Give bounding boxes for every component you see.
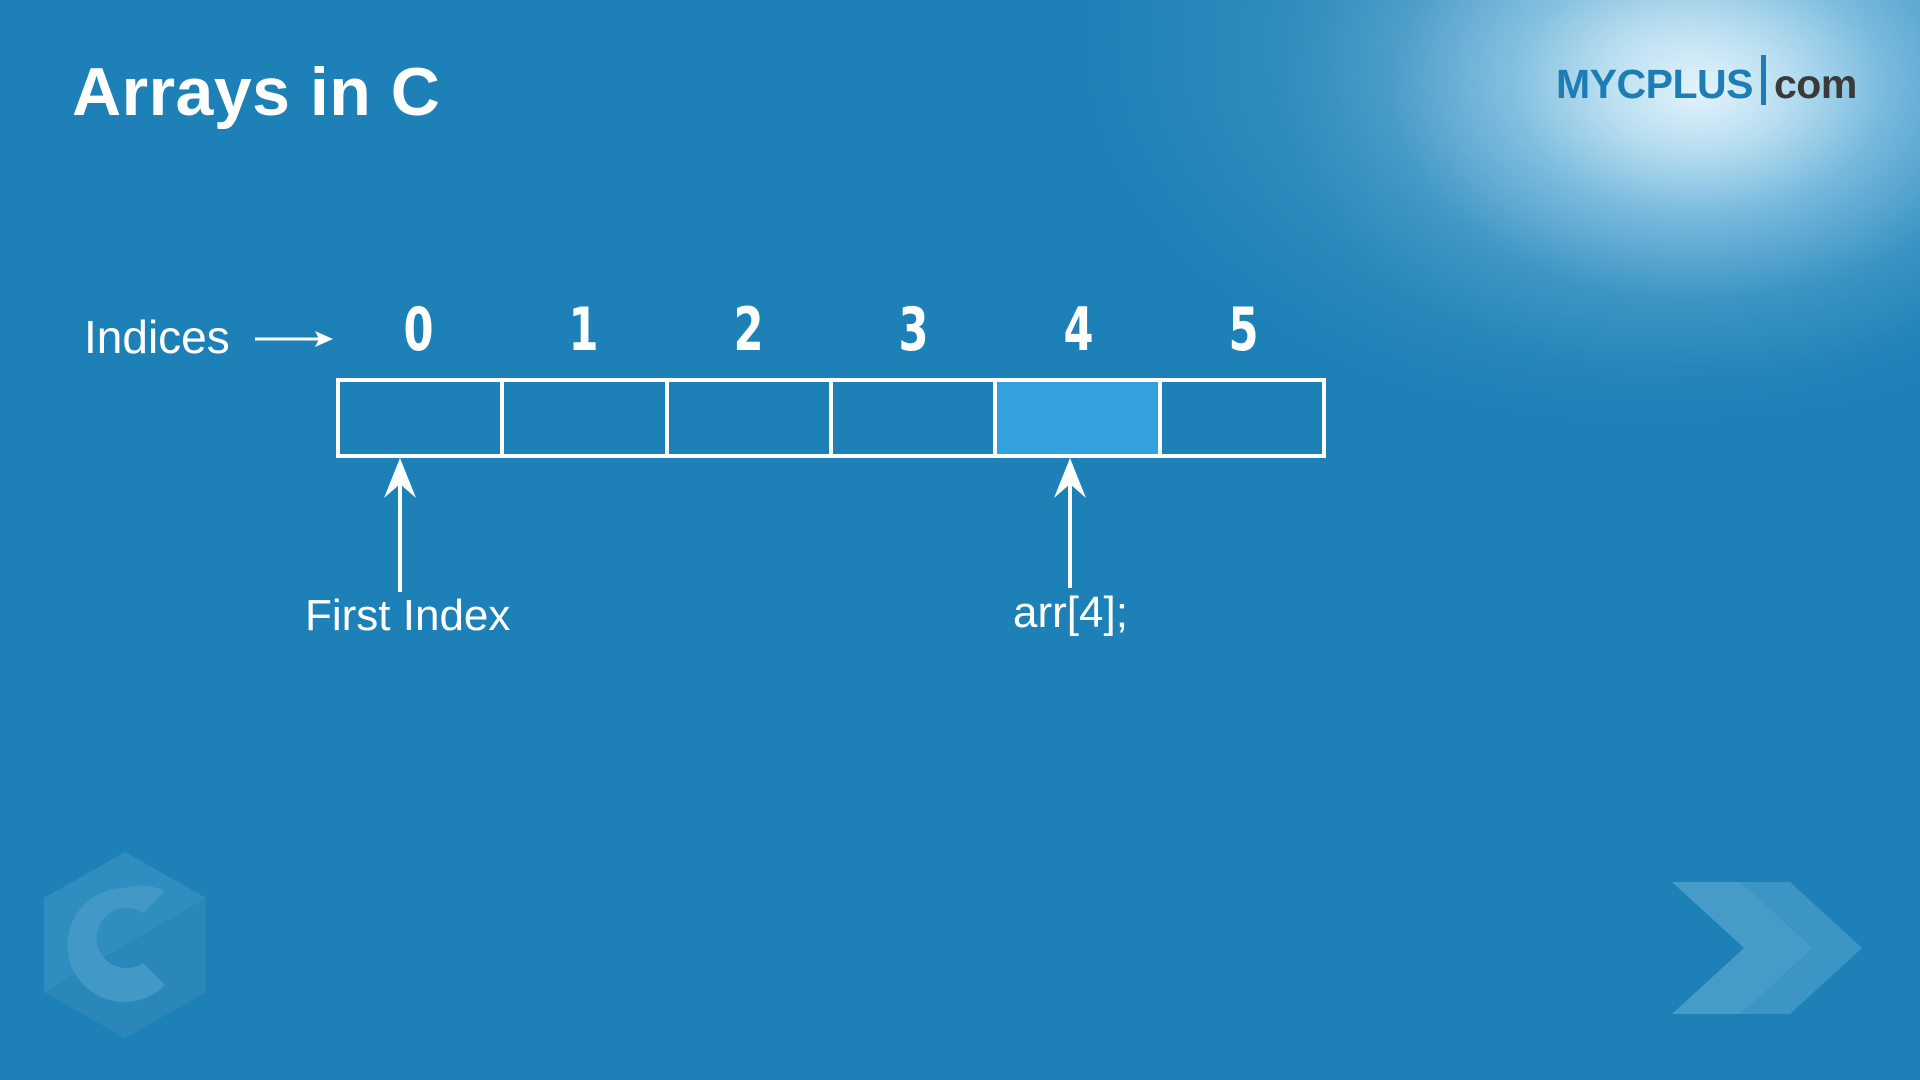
first-index-caption: First Index — [305, 591, 510, 641]
logo-brand-text: MYCPLUS — [1556, 61, 1753, 108]
array-cell-4-highlighted — [997, 382, 1161, 454]
index-number-row: 0 1 2 3 4 5 — [336, 300, 1326, 360]
array-cell-3 — [833, 382, 997, 454]
background-glow-highlight — [0, 0, 1920, 1080]
index-label: 2 — [683, 300, 815, 360]
index-label: 1 — [518, 300, 650, 360]
indices-pointer-arrow-icon — [255, 326, 333, 352]
first-index-callout-arrow-icon — [378, 458, 422, 592]
indices-label: Indices — [84, 310, 230, 364]
logo-separator-bar — [1761, 55, 1766, 105]
array-cell-0 — [340, 382, 504, 454]
mycplus-logo[interactable]: MYCPLUS com — [1556, 48, 1857, 108]
array-diagram — [336, 378, 1326, 458]
index-label: 3 — [848, 300, 980, 360]
c-language-hexagon-logo-icon — [40, 850, 210, 1040]
arr4-caption: arr[4]; — [1013, 588, 1128, 638]
background-glow — [0, 0, 1920, 1080]
index-label: 0 — [353, 300, 485, 360]
index-label: 4 — [1013, 300, 1145, 360]
array-cell-1 — [504, 382, 668, 454]
logo-tld-text: com — [1774, 61, 1857, 108]
array-cell-5 — [1162, 382, 1322, 454]
double-chevron-right-icon — [1672, 878, 1892, 1018]
slide-canvas: Arrays in C MYCPLUS com Indices 0 1 2 3 … — [0, 0, 1920, 1080]
array-cell-2 — [669, 382, 833, 454]
arr4-callout-arrow-icon — [1048, 458, 1092, 588]
page-title: Arrays in C — [72, 58, 440, 126]
index-label: 5 — [1178, 300, 1310, 360]
